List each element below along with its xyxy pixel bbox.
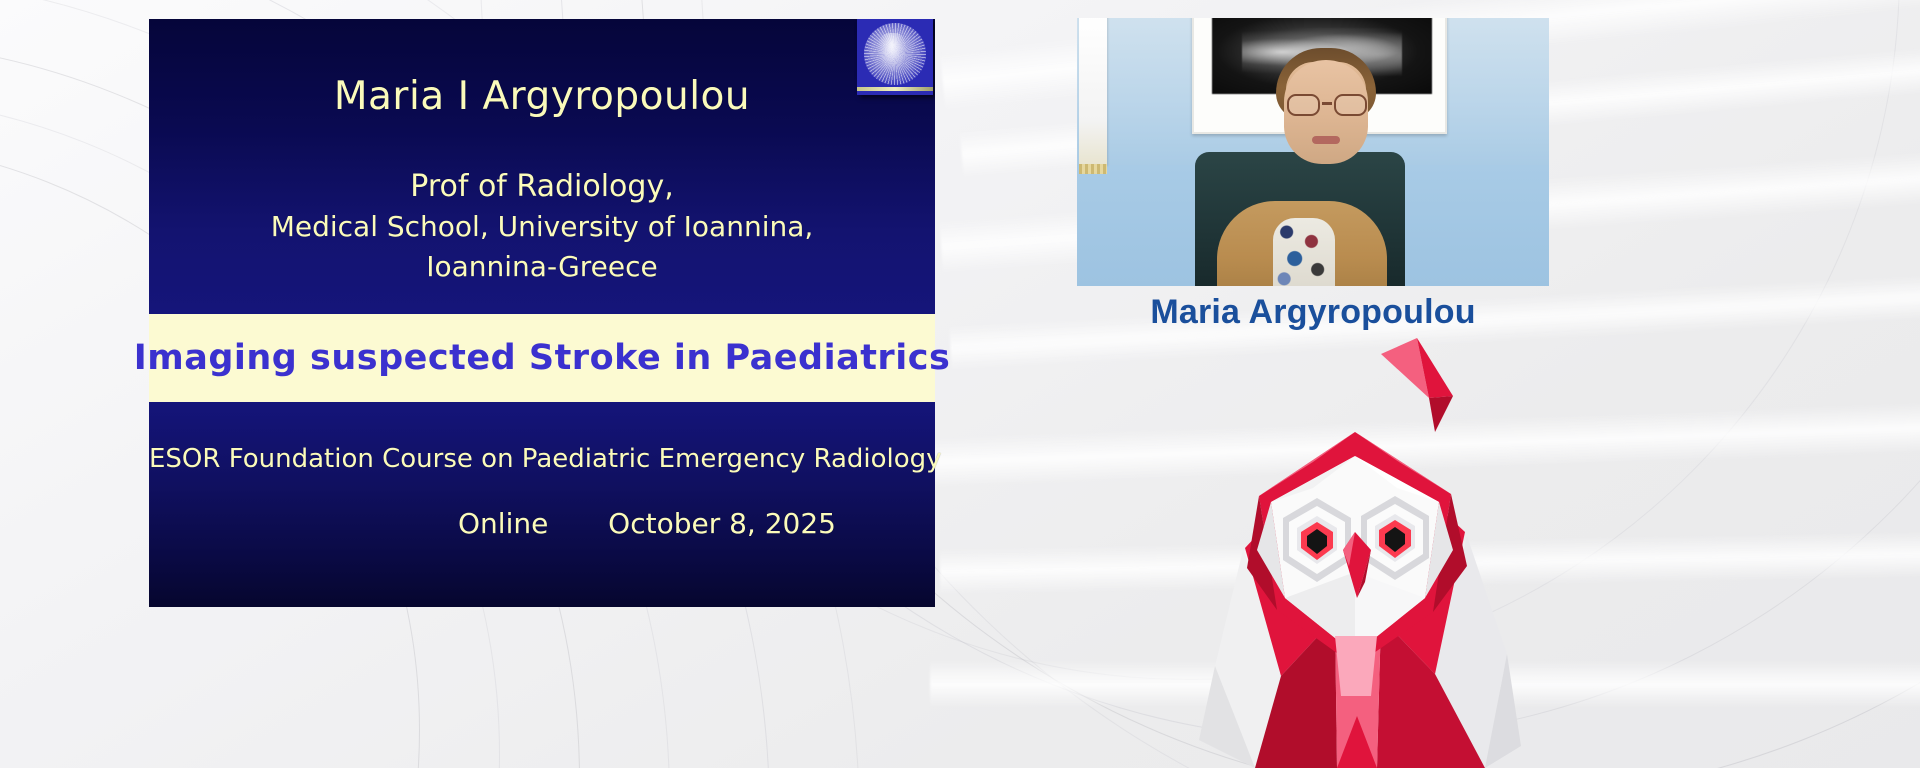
webcam-person-scarf [1273, 218, 1335, 286]
webcam-person-glasses [1286, 94, 1368, 116]
webcam-wall-banner [1079, 18, 1107, 166]
webcam-person-mouth [1312, 136, 1340, 144]
affiliation-line-2: Medical School, University of Ioannina, [149, 207, 935, 247]
event-mode: Online [458, 507, 548, 540]
presentation-stage: Maria I Argyropoulou Prof of Radiology, … [0, 0, 1920, 768]
esor-owl-mascot [1185, 336, 1525, 768]
presenter-affiliation: Prof of Radiology, Medical School, Unive… [149, 167, 935, 287]
affiliation-line-3: Ioannina-Greece [149, 247, 935, 287]
slide-title-band: Imaging suspected Stroke in Paediatrics [149, 314, 935, 402]
course-name: ESOR Foundation Course on Paediatric Eme… [149, 444, 935, 474]
speaker-video-feed[interactable] [1077, 18, 1549, 286]
slide-header-panel: Maria I Argyropoulou Prof of Radiology, … [149, 19, 935, 314]
event-date: October 8, 2025 [608, 507, 836, 540]
lecture-title: Imaging suspected Stroke in Paediatrics [134, 338, 951, 378]
slide-footer-panel: ESOR Foundation Course on Paediatric Eme… [149, 402, 935, 607]
event-details: Online October 8, 2025 [149, 507, 935, 540]
affiliation-line-1: Prof of Radiology, [149, 167, 935, 207]
presentation-slide: Maria I Argyropoulou Prof of Radiology, … [149, 19, 935, 607]
speaker-name-label: Maria Argyropoulou [1077, 293, 1549, 332]
presenter-name: Maria I Argyropoulou [149, 74, 935, 119]
